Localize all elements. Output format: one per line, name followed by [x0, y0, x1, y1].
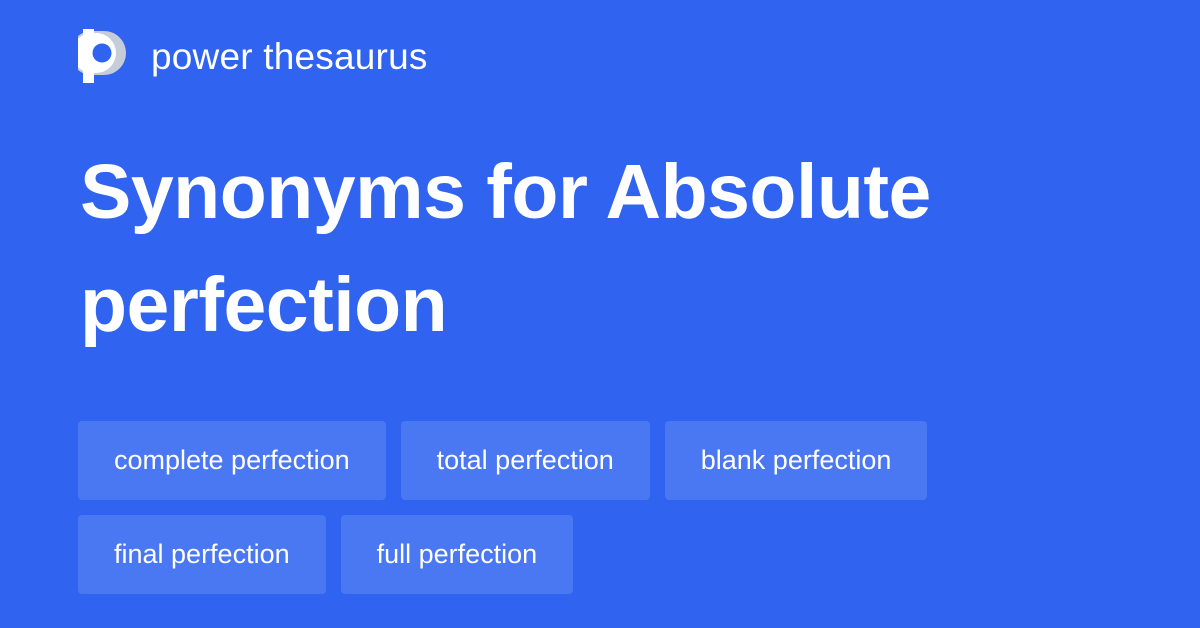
- synonym-chip[interactable]: final perfection: [78, 515, 326, 594]
- synonym-chip[interactable]: total perfection: [401, 421, 650, 500]
- synonym-chip[interactable]: blank perfection: [665, 421, 928, 500]
- brand-lockup[interactable]: power thesaurus: [78, 26, 428, 86]
- page-title: Synonyms for Absolute perfection: [80, 136, 1040, 362]
- synonym-chip[interactable]: full perfection: [341, 515, 574, 594]
- power-thesaurus-b-logo-icon: [78, 29, 128, 83]
- synonym-chip[interactable]: complete perfection: [78, 421, 386, 500]
- share-card: power thesaurus Synonyms for Absolute pe…: [0, 0, 1200, 628]
- logo-mark: [78, 29, 128, 83]
- brand-name: power thesaurus: [151, 38, 428, 75]
- synonym-list: complete perfection total perfection bla…: [78, 421, 1128, 594]
